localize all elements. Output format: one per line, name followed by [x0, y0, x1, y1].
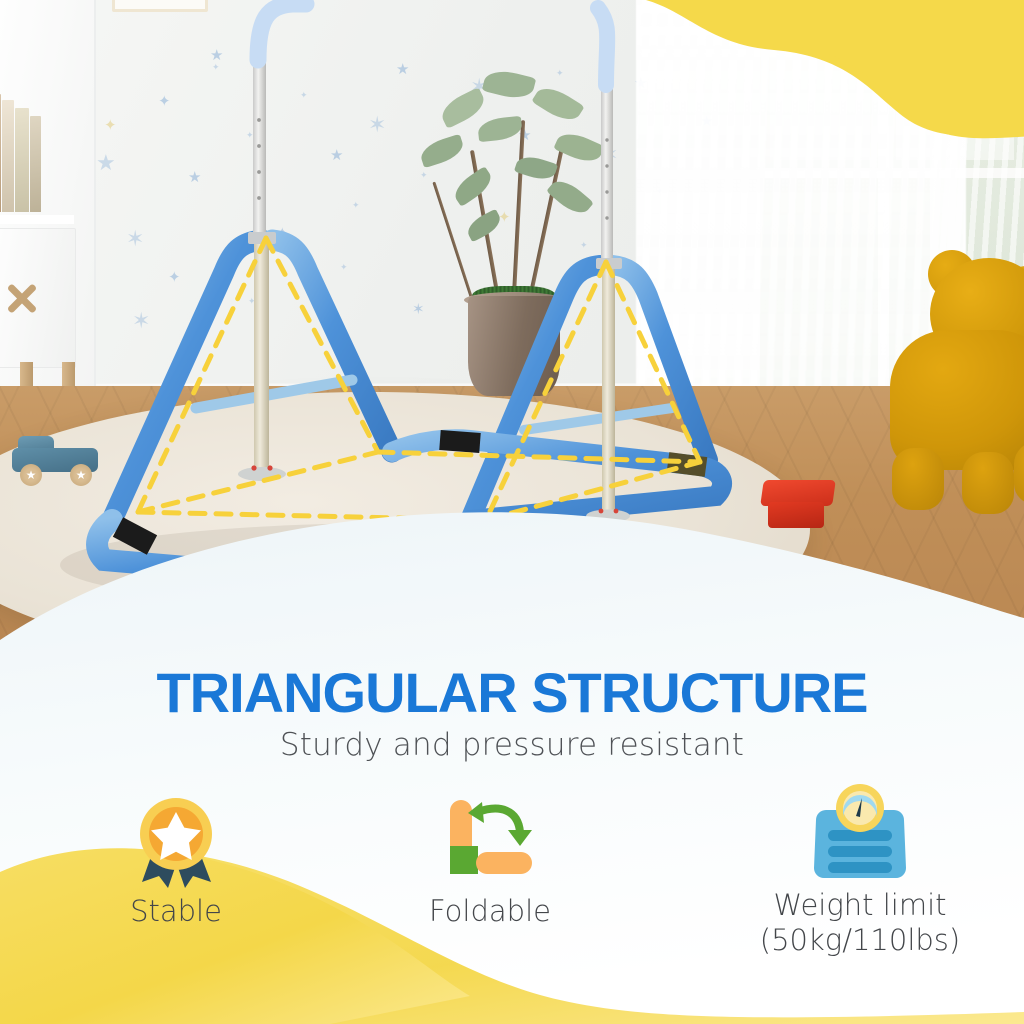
feature-weight-limit: Weight limit (50kg/110lbs)	[730, 784, 990, 959]
weight-scale-icon	[730, 784, 990, 888]
fold-arrow-icon	[372, 790, 608, 894]
feature-label-weight-2: (50kg/110lbs)	[730, 923, 990, 958]
feature-foldable: Foldable	[372, 790, 608, 929]
page-subtitle: Sturdy and pressure resistant	[0, 727, 1024, 763]
feature-stable: Stable	[58, 790, 294, 929]
award-medal-icon	[58, 790, 294, 894]
marketing-image: ★ ✦ ✦ ✶ ★ ✦ ✦ ★ ✶ ✦ ✦ ★ ✶ ✦ ✦ ★ ✦ ✶ ★ ✦ …	[0, 0, 1024, 1024]
feature-label-stable: Stable	[58, 894, 294, 929]
feature-list: Stable Foldable	[0, 790, 1024, 1000]
feature-label-weight-1: Weight limit	[730, 888, 990, 923]
feature-label-foldable: Foldable	[372, 894, 608, 929]
page-title: TRIANGULAR STRUCTURE	[0, 660, 1024, 725]
